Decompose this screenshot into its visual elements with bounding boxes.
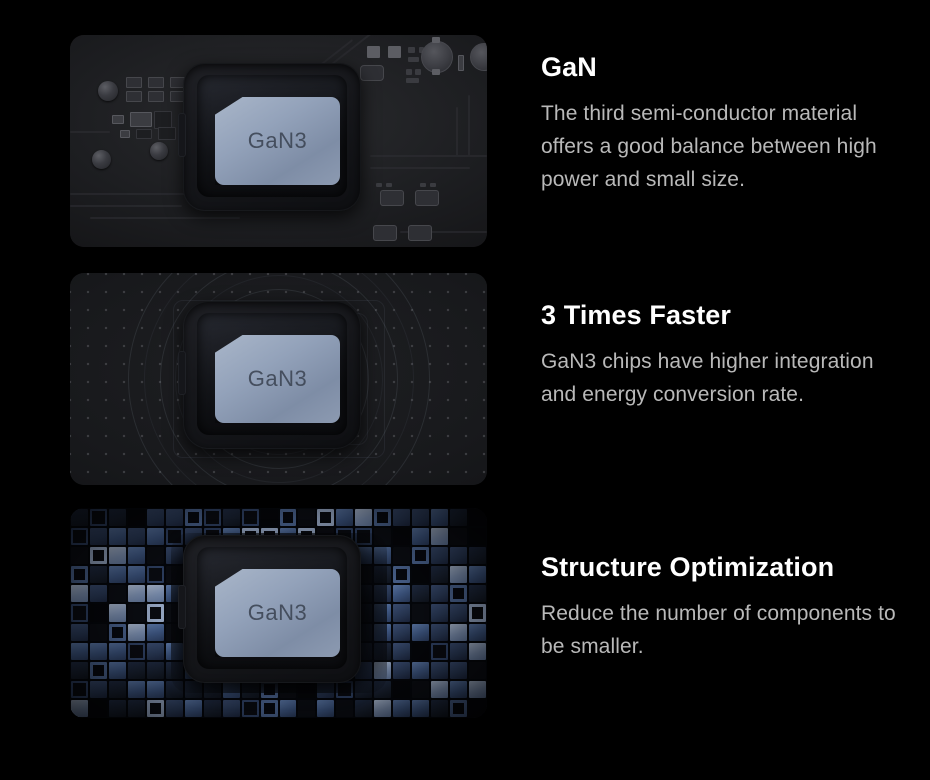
mosaic-tile xyxy=(127,603,146,622)
mosaic-tile xyxy=(392,546,411,565)
smd-component xyxy=(458,55,464,71)
mosaic-tile xyxy=(89,623,108,642)
mosaic-tile xyxy=(468,680,487,699)
mosaic-tile xyxy=(146,527,165,546)
mosaic-tile xyxy=(127,508,146,527)
solder-pad xyxy=(432,37,440,43)
feature-image-three-times-faster: GaN3 xyxy=(70,273,487,485)
mosaic-tile xyxy=(430,603,449,622)
mosaic-tile xyxy=(430,699,449,718)
mosaic-tile xyxy=(222,699,241,718)
smd-component xyxy=(112,115,124,124)
mosaic-tile xyxy=(70,699,89,718)
feature-image-structure-optimization: GaN3 xyxy=(70,508,487,718)
mosaic-tile xyxy=(108,565,127,584)
mosaic-tile xyxy=(70,642,89,661)
gan3-chip: GaN3 xyxy=(215,335,340,423)
product-feature-page: GaN3 GaN The third semi-conductor materi… xyxy=(0,0,930,780)
mosaic-tile xyxy=(297,508,316,527)
mosaic-tile xyxy=(70,527,89,546)
mosaic-tile xyxy=(316,508,335,527)
smd-component xyxy=(415,190,439,206)
mosaic-tile xyxy=(430,680,449,699)
mosaic-tile xyxy=(468,546,487,565)
mosaic-tile xyxy=(411,642,430,661)
mosaic-tile xyxy=(184,508,203,527)
mosaic-tile xyxy=(108,508,127,527)
mosaic-tile xyxy=(468,603,487,622)
mosaic-tile xyxy=(108,546,127,565)
mosaic-tile xyxy=(89,508,108,527)
smd-component xyxy=(408,225,432,241)
mosaic-tile xyxy=(430,565,449,584)
solder-pad xyxy=(420,183,426,187)
mosaic-tile xyxy=(373,699,392,718)
mosaic-tile xyxy=(279,699,298,718)
mosaic-tile xyxy=(392,603,411,622)
solder-pad xyxy=(376,183,382,187)
mosaic-tile xyxy=(146,699,165,718)
mosaic-tile xyxy=(411,661,430,680)
mosaic-tile xyxy=(108,623,127,642)
mosaic-tile xyxy=(392,565,411,584)
mosaic-tile xyxy=(449,623,468,642)
chip-tab xyxy=(178,113,186,157)
mosaic-tile xyxy=(108,642,127,661)
solder-dome xyxy=(92,150,111,169)
mosaic-tile xyxy=(449,546,468,565)
mosaic-tile xyxy=(70,584,89,603)
mosaic-tile xyxy=(146,680,165,699)
feature-title: GaN xyxy=(541,53,911,83)
solder-pad xyxy=(408,57,419,62)
mosaic-tile xyxy=(392,699,411,718)
mosaic-tile xyxy=(392,642,411,661)
mosaic-tile xyxy=(411,699,430,718)
smd-component xyxy=(148,91,164,102)
mosaic-tile xyxy=(260,508,279,527)
mosaic-tile xyxy=(316,699,335,718)
mosaic-tile xyxy=(108,527,127,546)
mosaic-tile xyxy=(70,508,89,527)
mosaic-tile xyxy=(392,680,411,699)
mosaic-tile xyxy=(449,584,468,603)
mosaic-tile xyxy=(411,546,430,565)
solder-pad xyxy=(432,69,440,75)
smd-component xyxy=(126,91,142,102)
mosaic-tile xyxy=(449,642,468,661)
mosaic-tile xyxy=(241,508,260,527)
mosaic-tile xyxy=(146,565,165,584)
mosaic-tile xyxy=(89,603,108,622)
mosaic-tile xyxy=(108,584,127,603)
solder-dome xyxy=(150,142,168,160)
chip-tab xyxy=(178,351,186,395)
mosaic-tile xyxy=(411,584,430,603)
mosaic-tile xyxy=(127,623,146,642)
mosaic-tile xyxy=(468,565,487,584)
mosaic-tile xyxy=(108,699,127,718)
solder-pad xyxy=(406,78,419,83)
mosaic-tile xyxy=(89,661,108,680)
chip-label: GaN3 xyxy=(248,128,307,154)
mosaic-tile xyxy=(89,680,108,699)
mosaic-tile xyxy=(146,661,165,680)
solder-pad xyxy=(415,69,421,75)
mosaic-tile xyxy=(392,584,411,603)
mosaic-tile xyxy=(430,661,449,680)
feature-text-three-times-faster: 3 Times Faster GaN3 chips have higher in… xyxy=(541,301,911,411)
mosaic-tile xyxy=(392,623,411,642)
mosaic-tile xyxy=(449,603,468,622)
mosaic-tile xyxy=(430,508,449,527)
mosaic-tile xyxy=(184,699,203,718)
feature-description: GaN3 chips have higher integration and e… xyxy=(541,345,911,411)
mosaic-tile xyxy=(127,699,146,718)
mosaic-tile xyxy=(146,603,165,622)
mosaic-tile xyxy=(468,508,487,527)
mosaic-tile xyxy=(373,508,392,527)
chip-label: GaN3 xyxy=(248,600,307,626)
mosaic-tile xyxy=(392,527,411,546)
mosaic-tile xyxy=(146,584,165,603)
mosaic-tile xyxy=(203,508,222,527)
mosaic-tile xyxy=(449,565,468,584)
solder-dome xyxy=(98,81,118,101)
mosaic-tile xyxy=(108,603,127,622)
mosaic-tile xyxy=(449,680,468,699)
chip-tab xyxy=(178,585,186,629)
mosaic-tile xyxy=(89,527,108,546)
mosaic-tile xyxy=(430,623,449,642)
mosaic-tile xyxy=(70,546,89,565)
mosaic-tile xyxy=(222,508,241,527)
feature-text-gan: GaN The third semi-conductor material of… xyxy=(541,53,911,196)
mosaic-tile xyxy=(392,661,411,680)
mosaic-tile xyxy=(89,565,108,584)
solder-pad xyxy=(406,69,412,75)
mosaic-tile xyxy=(392,508,411,527)
mosaic-tile xyxy=(146,623,165,642)
mosaic-tile xyxy=(411,603,430,622)
mosaic-tile xyxy=(430,527,449,546)
chip-label: GaN3 xyxy=(248,366,307,392)
gan3-chip: GaN3 xyxy=(215,569,340,657)
mosaic-tile xyxy=(449,527,468,546)
mosaic-tile xyxy=(430,584,449,603)
smd-component xyxy=(373,225,397,241)
mosaic-tile xyxy=(335,699,354,718)
mosaic-tile xyxy=(70,680,89,699)
mosaic-tile xyxy=(89,546,108,565)
mosaic-tile xyxy=(411,527,430,546)
mosaic-tile xyxy=(468,642,487,661)
smd-component xyxy=(130,112,152,127)
feature-description: The third semi-conductor material offers… xyxy=(541,97,911,196)
mosaic-tile xyxy=(430,642,449,661)
mosaic-tile xyxy=(449,699,468,718)
mosaic-tile xyxy=(127,565,146,584)
mosaic-tile xyxy=(127,642,146,661)
mosaic-tile xyxy=(411,623,430,642)
mosaic-tile xyxy=(468,623,487,642)
mosaic-tile xyxy=(241,699,260,718)
solder-pad xyxy=(430,183,436,187)
mosaic-tile xyxy=(468,527,487,546)
mosaic-tile xyxy=(279,508,298,527)
mosaic-tile xyxy=(449,508,468,527)
smd-component xyxy=(148,77,164,88)
smd-component xyxy=(158,127,176,140)
solder-pad xyxy=(367,46,380,58)
smd-component xyxy=(126,77,142,88)
mosaic-tile xyxy=(165,699,184,718)
mosaic-tile xyxy=(89,699,108,718)
feature-title: 3 Times Faster xyxy=(541,301,911,331)
mosaic-tile xyxy=(108,661,127,680)
mosaic-tile xyxy=(70,623,89,642)
mosaic-tile xyxy=(354,508,373,527)
mosaic-tile xyxy=(335,508,354,527)
smd-component xyxy=(120,130,130,138)
smd-component xyxy=(380,190,404,206)
solder-pad xyxy=(388,46,401,58)
mosaic-tile xyxy=(165,508,184,527)
mosaic-tile xyxy=(70,565,89,584)
mosaic-tile xyxy=(146,546,165,565)
mosaic-tile xyxy=(260,699,279,718)
mosaic-tile xyxy=(146,642,165,661)
smd-component xyxy=(136,129,152,139)
mosaic-tile xyxy=(108,680,127,699)
feature-description: Reduce the number of components to be sm… xyxy=(541,597,911,663)
mosaic-tile xyxy=(127,661,146,680)
mosaic-tile xyxy=(89,642,108,661)
gan3-chip: GaN3 xyxy=(215,97,340,185)
mosaic-tile xyxy=(449,661,468,680)
mosaic-tile xyxy=(146,508,165,527)
mosaic-tile xyxy=(468,661,487,680)
mosaic-tile xyxy=(430,546,449,565)
mosaic-tile xyxy=(468,699,487,718)
mosaic-tile xyxy=(70,661,89,680)
mosaic-tile xyxy=(411,508,430,527)
mosaic-tile xyxy=(411,565,430,584)
solder-pad xyxy=(408,47,415,53)
mosaic-tile xyxy=(203,699,222,718)
mosaic-tile xyxy=(70,603,89,622)
feature-title: Structure Optimization xyxy=(541,553,911,583)
smd-component xyxy=(360,65,384,81)
mosaic-tile xyxy=(127,546,146,565)
feature-image-gan: GaN3 xyxy=(70,35,487,247)
solder-pad xyxy=(386,183,392,187)
mosaic-tile xyxy=(354,699,373,718)
mosaic-tile xyxy=(89,584,108,603)
mosaic-tile xyxy=(411,680,430,699)
mosaic-tile xyxy=(127,584,146,603)
mosaic-tile xyxy=(297,699,316,718)
mosaic-tile xyxy=(127,527,146,546)
mosaic-tile xyxy=(127,680,146,699)
mosaic-tile xyxy=(468,584,487,603)
feature-text-structure-optimization: Structure Optimization Reduce the number… xyxy=(541,553,911,663)
